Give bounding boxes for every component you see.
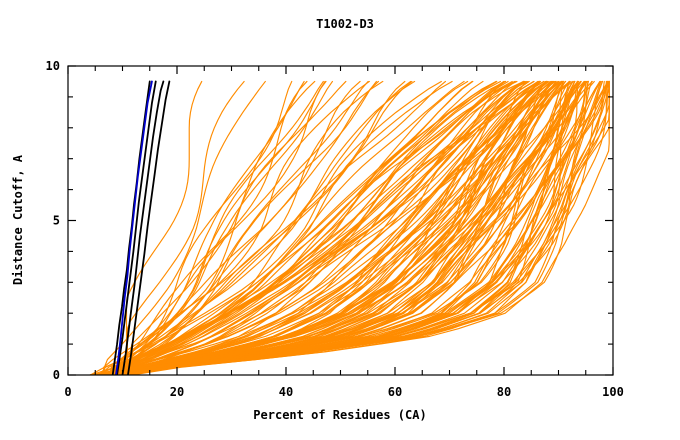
x-tick-label: 0	[64, 385, 71, 399]
y-tick-label: 10	[46, 59, 60, 73]
plot-canvas: T1002-D3 Percent of Residues (CA) Distan…	[0, 0, 680, 440]
y-tick-label: 5	[53, 214, 60, 228]
x-tick-label: 80	[497, 385, 511, 399]
x-tick-label: 100	[602, 385, 624, 399]
figure-container: T1002-D3 Percent of Residues (CA) Distan…	[0, 0, 680, 440]
x-tick-label: 20	[170, 385, 184, 399]
x-tick-label: 60	[388, 385, 402, 399]
chart-title: T1002-D3	[316, 17, 374, 31]
x-axis-label: Percent of Residues (CA)	[253, 408, 426, 422]
y-tick-label: 0	[53, 368, 60, 382]
y-axis-label: Distance Cutoff, A	[11, 154, 25, 285]
x-tick-label: 40	[279, 385, 293, 399]
